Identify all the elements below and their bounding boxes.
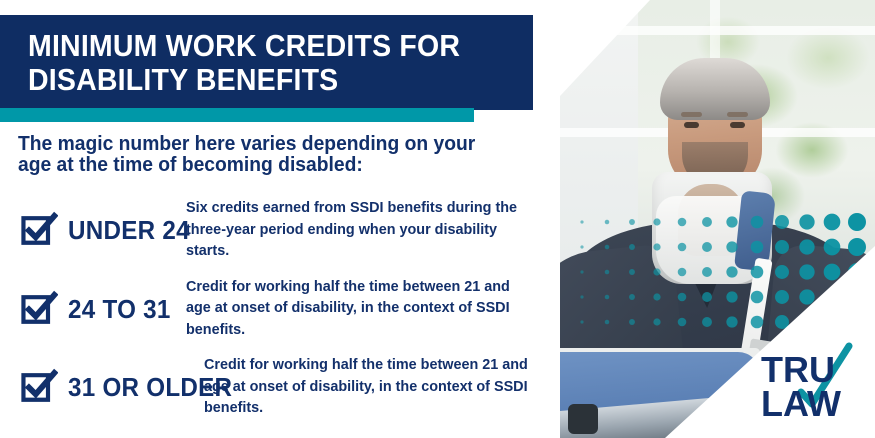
rule-age-label: 24 TO 31 bbox=[68, 295, 171, 323]
teal-accent-bar bbox=[0, 108, 474, 122]
infographic-canvas: MINIMUM WORK CREDITS FOR DISABILITY BENE… bbox=[0, 0, 875, 438]
logo-line-2: LAW bbox=[761, 383, 841, 422]
list-item: 24 TO 31 Credit for working half the tim… bbox=[18, 275, 558, 342]
rule-label-group: UNDER 24 bbox=[18, 196, 186, 250]
rule-label-group: 24 TO 31 bbox=[18, 275, 186, 329]
rule-label-group: 31 OR OLDER bbox=[18, 353, 204, 407]
rule-age-label: 31 OR OLDER bbox=[68, 373, 232, 401]
rule-description: Credit for working half the time between… bbox=[186, 275, 531, 342]
photo-eyebrow-left bbox=[681, 112, 702, 117]
rule-age-label: UNDER 24 bbox=[68, 216, 190, 244]
rule-description: Six credits earned from SSDI benefits du… bbox=[186, 196, 531, 263]
checkbox-checked-icon bbox=[18, 210, 58, 250]
list-item: 31 OR OLDER Credit for working half the … bbox=[18, 353, 558, 420]
photo-hair bbox=[660, 58, 770, 120]
page-title: MINIMUM WORK CREDITS FOR DISABILITY BENE… bbox=[28, 29, 493, 97]
checkbox-checked-icon bbox=[18, 289, 58, 329]
tru-law-logo[interactable]: TRU LAW bbox=[757, 338, 869, 422]
title-banner: MINIMUM WORK CREDITS FOR DISABILITY BENE… bbox=[0, 15, 533, 110]
intro-text: The magic number here varies depending o… bbox=[18, 133, 488, 175]
rule-description: Credit for working half the time between… bbox=[204, 353, 534, 420]
photo-eyebrow-right bbox=[727, 112, 748, 117]
photo-eye-left bbox=[684, 122, 699, 128]
list-item: UNDER 24 Six credits earned from SSDI be… bbox=[18, 196, 558, 263]
checkbox-checked-icon bbox=[18, 367, 58, 407]
photo-desk-object bbox=[568, 404, 598, 434]
credit-rules-list: UNDER 24 Six credits earned from SSDI be… bbox=[18, 196, 558, 432]
photo-eye-right bbox=[730, 122, 745, 128]
